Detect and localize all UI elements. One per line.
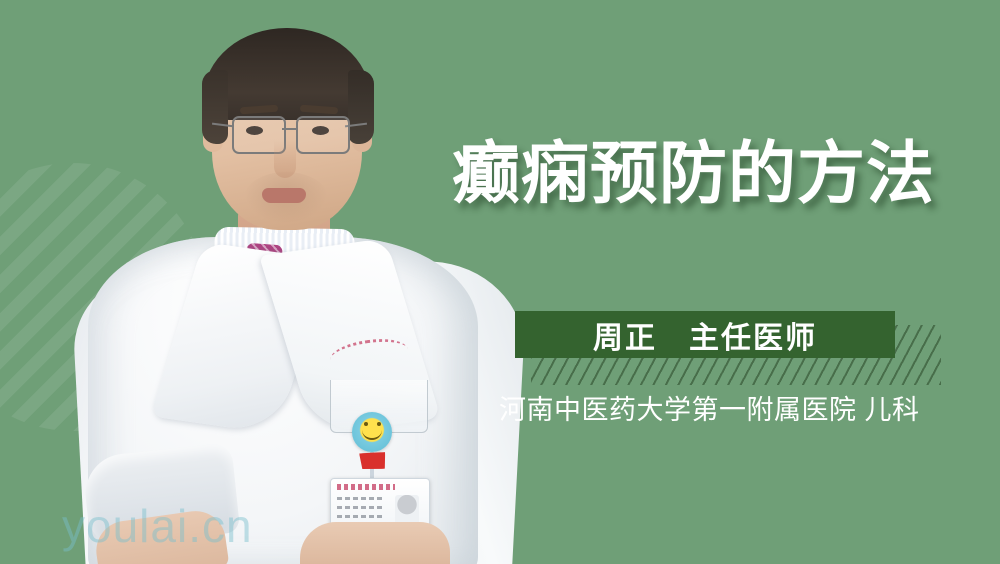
hair-side-right [348,70,374,144]
id-card-text-line [337,515,385,518]
mouth [262,188,306,203]
doctor-name-and-title: 周正 主任医师 [515,311,895,358]
page-title: 癫痫预防的方法 [452,140,935,208]
site-watermark: youlai.cn [62,499,253,553]
id-card-logo [337,484,395,490]
hair-side-left [202,70,228,144]
id-card-text-line [337,497,385,500]
glasses-lens-right [296,116,350,154]
doctor-portrait-photo [0,0,560,564]
smiley-eye-right-icon [377,422,381,426]
glasses-bridge [282,128,296,130]
red-flag-charm-icon [359,451,387,472]
hand [300,522,450,564]
id-card-portrait [395,495,419,525]
hair [204,28,370,120]
banner-bar: 周正 主任医师 [515,311,895,358]
id-card-text-line [337,506,385,509]
video-thumbnail-card: 癫痫预防的方法 周正 主任医师 河南中医药大学第一附属医院 儿科 youlai.… [0,0,1000,564]
doctor-name-banner: 周正 主任医师 [515,311,895,358]
smiley-eye-left-icon [364,422,368,426]
nose [274,140,296,178]
hospital-and-department: 河南中医药大学第一附属医院 儿科 [499,388,920,427]
